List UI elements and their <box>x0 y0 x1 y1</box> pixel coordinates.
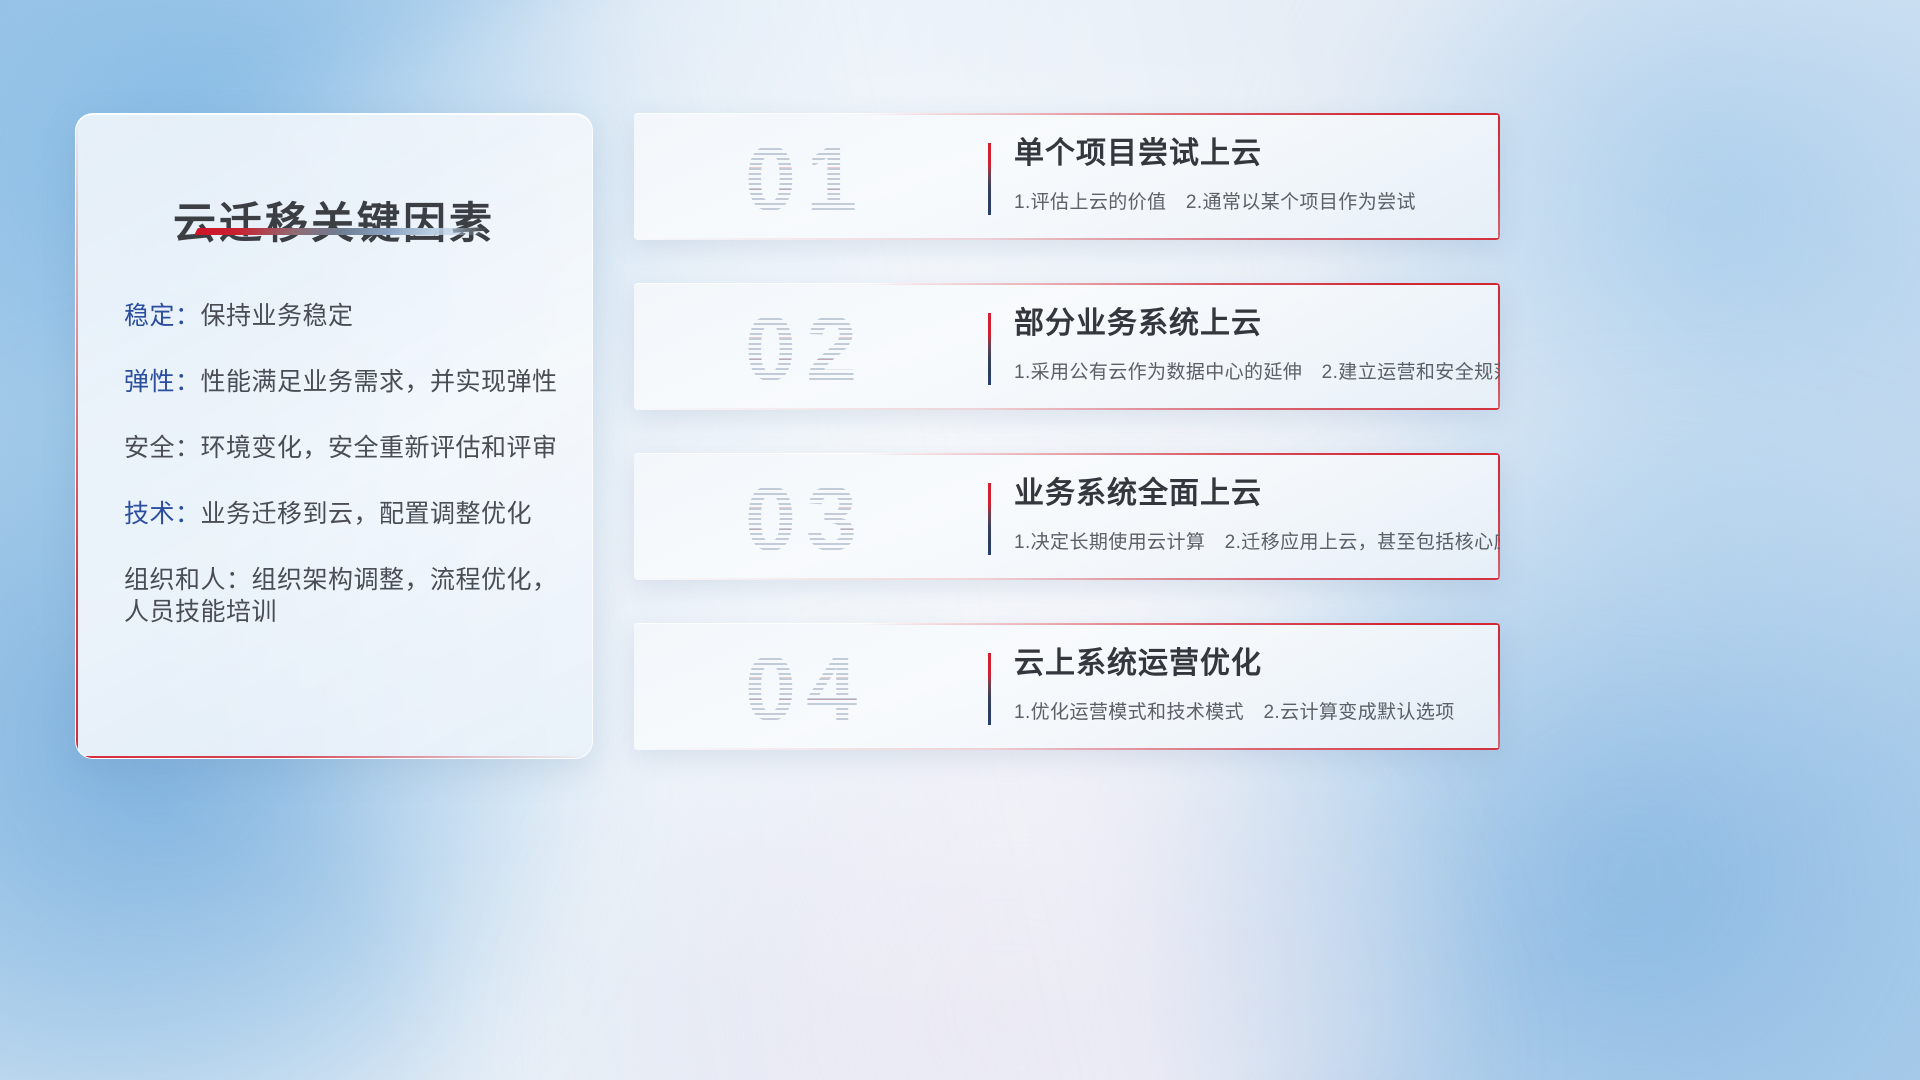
key-factor-label: 弹性： <box>124 368 201 396</box>
key-factor-label: 安全： <box>124 434 201 462</box>
stage-card[interactable]: 0303业务系统全面上云1.决定长期使用云计算 2.迁移应用上云，甚至包括核心应… <box>634 453 1500 580</box>
card-description: 1.采用公有云作为数据中心的延伸 2.建立运营和安全规范 <box>1014 357 1478 384</box>
card-body: 部分业务系统上云1.采用公有云作为数据中心的延伸 2.建立运营和安全规范 <box>1014 305 1478 384</box>
card-right-accent <box>1498 113 1500 240</box>
key-factor-item: 技术：业务迁移到云，配置调整优化 <box>124 498 564 530</box>
key-factor-text: 业务迁移到云，配置调整优化 <box>201 500 533 528</box>
key-factor-text: 保持业务稳定 <box>201 302 354 330</box>
card-right-accent <box>1498 453 1500 580</box>
key-factor-item: 弹性：性能满足业务需求，并实现弹性 <box>124 366 564 398</box>
card-bottom-accent <box>634 408 1500 410</box>
panel-bottom-accent-bar <box>76 756 592 758</box>
card-bottom-accent <box>634 748 1500 750</box>
card-divider-bar <box>988 483 991 555</box>
stage-number-watermark-tint: 02 <box>656 293 956 405</box>
card-description: 1.评估上云的价值 2.通常以某个项目作为尝试 <box>1014 187 1478 214</box>
card-title: 业务系统全面上云 <box>1014 475 1478 513</box>
card-divider-bar <box>988 653 991 725</box>
card-right-accent <box>1498 283 1500 410</box>
stage-card[interactable]: 0404云上系统运营优化1.优化运营模式和技术模式 2.云计算变成默认选项 <box>634 623 1500 750</box>
stage-card[interactable]: 0101单个项目尝试上云1.评估上云的价值 2.通常以某个项目作为尝试 <box>634 113 1500 240</box>
card-title: 单个项目尝试上云 <box>1014 135 1478 173</box>
key-factor-text: 环境变化，安全重新评估和评审 <box>201 434 558 462</box>
card-body: 单个项目尝试上云1.评估上云的价值 2.通常以某个项目作为尝试 <box>1014 135 1478 214</box>
card-description: 1.决定长期使用云计算 2.迁移应用上云，甚至包括核心应用 <box>1014 527 1478 554</box>
card-description: 1.优化运营模式和技术模式 2.云计算变成默认选项 <box>1014 697 1478 724</box>
card-top-accent <box>634 283 1500 285</box>
page-title: 云迁移关键因素 <box>76 189 592 251</box>
card-title: 部分业务系统上云 <box>1014 305 1478 343</box>
key-factors-panel: 云迁移关键因素 稳定：保持业务稳定弹性：性能满足业务需求，并实现弹性安全：环境变… <box>75 113 593 759</box>
key-factor-label: 组织和人： <box>124 566 252 594</box>
card-top-accent <box>634 453 1500 455</box>
stage-number-watermark-tint: 04 <box>656 633 956 745</box>
key-factor-text: 性能满足业务需求，并实现弹性 <box>201 368 558 396</box>
card-top-accent <box>634 623 1500 625</box>
key-factor-label: 技术： <box>124 500 201 528</box>
card-top-accent <box>634 113 1500 115</box>
stage-number-watermark-tint: 03 <box>656 463 956 575</box>
cloud-migration-stages: 0101单个项目尝试上云1.评估上云的价值 2.通常以某个项目作为尝试0202部… <box>634 113 1500 750</box>
key-factor-item: 安全：环境变化，安全重新评估和评审 <box>124 432 564 464</box>
card-bottom-accent <box>634 578 1500 580</box>
card-bottom-accent <box>634 238 1500 240</box>
stage-card[interactable]: 0202部分业务系统上云1.采用公有云作为数据中心的延伸 2.建立运营和安全规范 <box>634 283 1500 410</box>
card-divider-bar <box>988 313 991 385</box>
card-right-accent <box>1498 623 1500 750</box>
stage-number-watermark-tint: 01 <box>656 123 956 235</box>
card-divider-bar <box>988 143 991 215</box>
key-factor-label: 稳定： <box>124 302 201 330</box>
card-body: 云上系统运营优化1.优化运营模式和技术模式 2.云计算变成默认选项 <box>1014 645 1478 724</box>
key-factors-list: 稳定：保持业务稳定弹性：性能满足业务需求，并实现弹性安全：环境变化，安全重新评估… <box>124 300 564 628</box>
title-underline-rule <box>194 228 487 235</box>
card-title: 云上系统运营优化 <box>1014 645 1478 683</box>
card-body: 业务系统全面上云1.决定长期使用云计算 2.迁移应用上云，甚至包括核心应用 <box>1014 475 1478 554</box>
key-factor-item: 稳定：保持业务稳定 <box>124 300 564 332</box>
key-factor-item: 组织和人：组织架构调整，流程优化，人员技能培训 <box>124 564 564 628</box>
